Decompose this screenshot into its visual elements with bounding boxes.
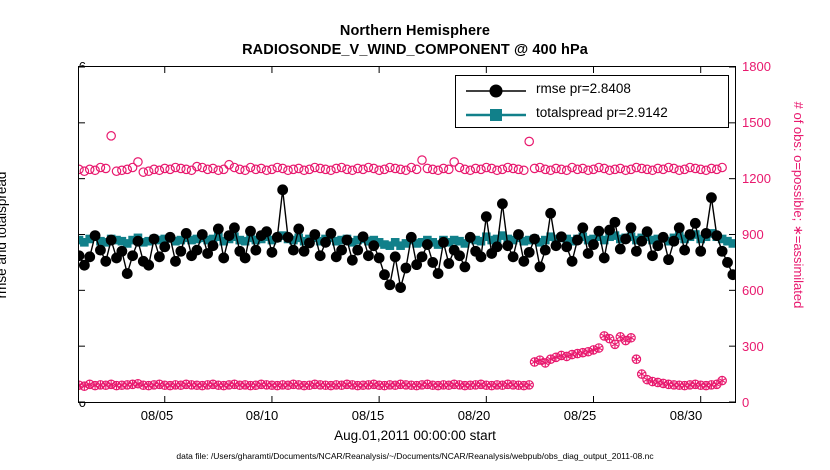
legend-label-rmse: rmse pr=2.8408	[536, 81, 631, 96]
chart-page: Northern Hemisphere RADIOSONDE_V_WIND_CO…	[0, 0, 830, 470]
ytick-right-1200: 1200	[742, 171, 794, 186]
y-axis-label-left: rmse and totalspread	[0, 135, 9, 335]
xtick-0825: 08/25	[540, 408, 620, 423]
x-axis-label: Aug.01,2011 00:00:00 start	[0, 428, 830, 443]
xtick-0815: 08/15	[328, 408, 408, 423]
y-axis-label-right: # of obs: o=possible; ∗=assimilated	[790, 60, 806, 350]
xtick-0820: 08/20	[434, 408, 514, 423]
chart-legend: rmse pr=2.8408 totalspread pr=2.9142	[455, 75, 729, 128]
chart-title: Northern Hemisphere RADIOSONDE_V_WIND_CO…	[0, 22, 830, 60]
legend-marker-rmse	[462, 78, 530, 104]
ytick-right-0: 0	[742, 395, 794, 410]
title-line-2: RADIOSONDE_V_WIND_COMPONENT @ 400 hPa	[0, 41, 830, 60]
legend-row-rmse: rmse pr=2.8408	[456, 78, 728, 104]
ytick-right-600: 600	[742, 283, 794, 298]
xtick-0805: 08/05	[117, 408, 197, 423]
ytick-right-1500: 1500	[742, 115, 794, 130]
legend-marker-totalspread	[462, 102, 530, 128]
ytick-right-1800: 1800	[742, 59, 794, 74]
legend-row-totalspread: totalspread pr=2.9142	[456, 102, 728, 128]
xtick-0830: 08/30	[646, 408, 726, 423]
xtick-0810: 08/10	[222, 408, 302, 423]
ytick-right-300: 300	[742, 339, 794, 354]
title-line-1: Northern Hemisphere	[0, 22, 830, 41]
data-file-footer: data file: /Users/gharamti/Documents/NCA…	[0, 451, 830, 461]
ytick-right-900: 900	[742, 227, 794, 242]
legend-label-totalspread: totalspread pr=2.9142	[536, 105, 668, 120]
